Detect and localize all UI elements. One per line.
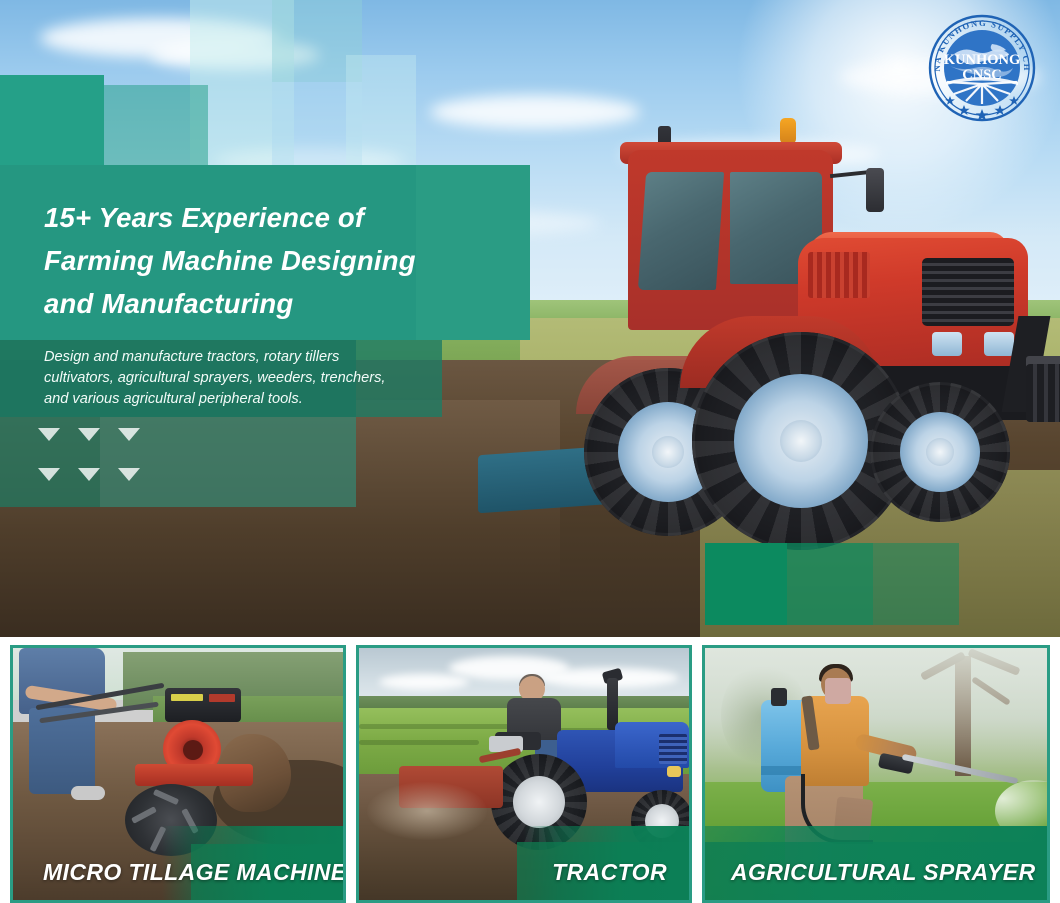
triangle-down-icon xyxy=(78,468,100,481)
banner-page: 15+ Years Experience of Farming Machine … xyxy=(0,0,1060,903)
triangle-decor-grid xyxy=(38,428,150,496)
front-grill xyxy=(922,258,1014,326)
headline-line-2: Farming Machine Designing xyxy=(44,239,514,282)
card-caption: MICRO TILLAGE MACHINE xyxy=(43,859,346,886)
wheel-hub xyxy=(652,436,684,468)
decor-block xyxy=(0,75,104,165)
cloud xyxy=(379,674,469,690)
sprayer-tank-cap xyxy=(771,688,787,706)
wheel-hub xyxy=(926,438,954,466)
subtext-line-1: Design and manufacture tractors, rotary … xyxy=(44,347,464,368)
triangle-down-icon xyxy=(38,468,60,481)
hero-tractor-image xyxy=(540,120,1060,530)
wheel-rim xyxy=(513,776,565,828)
headlight xyxy=(984,332,1014,356)
tine xyxy=(131,806,157,824)
triangle-down-icon xyxy=(118,468,140,481)
green-accent-block xyxy=(705,543,787,625)
crop-row xyxy=(359,740,479,745)
wheel-rim xyxy=(900,412,980,492)
triangle-down-icon xyxy=(38,428,60,441)
subtext-line-2: cultivators, agricultural sprayers, weed… xyxy=(44,368,464,389)
engine-label xyxy=(171,694,203,701)
headline-line-3: and Manufacturing xyxy=(44,282,514,325)
product-card-micro-tillage-machine[interactable]: MICRO TILLAGE MACHINE xyxy=(10,645,346,903)
crop-row xyxy=(359,724,509,729)
wheel-front xyxy=(870,382,1010,522)
card-caption: AGRICULTURAL SPRAYER xyxy=(731,859,1035,886)
exhaust-stack xyxy=(607,678,618,730)
hood-side-vent xyxy=(808,252,870,298)
side-mirror xyxy=(866,168,884,212)
tiller-red-frame xyxy=(135,764,253,786)
wheel-rim xyxy=(734,374,868,508)
headline-line-1: 15+ Years Experience of xyxy=(44,196,514,239)
engine-red-decal xyxy=(209,694,235,702)
green-accent-block xyxy=(787,543,873,625)
wheel-hub xyxy=(780,420,822,462)
headlight xyxy=(932,332,962,356)
triangle-down-icon xyxy=(118,428,140,441)
card-caption: TRACTOR xyxy=(552,859,667,886)
triangle-down-icon xyxy=(78,428,100,441)
warning-beacon-icon xyxy=(780,118,796,144)
cab-windshield xyxy=(638,172,724,290)
hero-section: 15+ Years Experience of Farming Machine … xyxy=(0,0,1060,637)
operator-shoe xyxy=(71,786,105,800)
company-logo[interactable]: KUNHONG CNSC CHINA KUNHONG SUPPLY CHAIN xyxy=(922,8,1042,128)
front-weight-block xyxy=(1026,364,1060,422)
decor-block xyxy=(104,85,208,165)
green-accent-block xyxy=(873,543,959,625)
product-card-agricultural-sprayer[interactable]: AGRICULTURAL SPRAYER xyxy=(702,645,1050,903)
subtext-line-3: and various agricultural peripheral tool… xyxy=(44,389,464,410)
decor-block xyxy=(346,55,416,165)
operator-face-cloth xyxy=(825,678,851,704)
tine xyxy=(153,789,179,805)
product-card-row: MICRO TILLAGE MACHINE xyxy=(0,645,1060,903)
logo-center-line-2: CNSC xyxy=(962,67,1001,83)
logo-center-line-1: KUNHONG xyxy=(944,52,1021,68)
headlight xyxy=(667,766,681,777)
product-card-tractor[interactable]: TRACTOR xyxy=(356,645,692,903)
starter-hub xyxy=(183,740,203,760)
tractor-grill xyxy=(659,734,687,764)
page-title: 15+ Years Experience of Farming Machine … xyxy=(44,196,514,325)
hero-subtext: Design and manufacture tractors, rotary … xyxy=(44,347,464,410)
dust-cloud xyxy=(367,782,487,840)
